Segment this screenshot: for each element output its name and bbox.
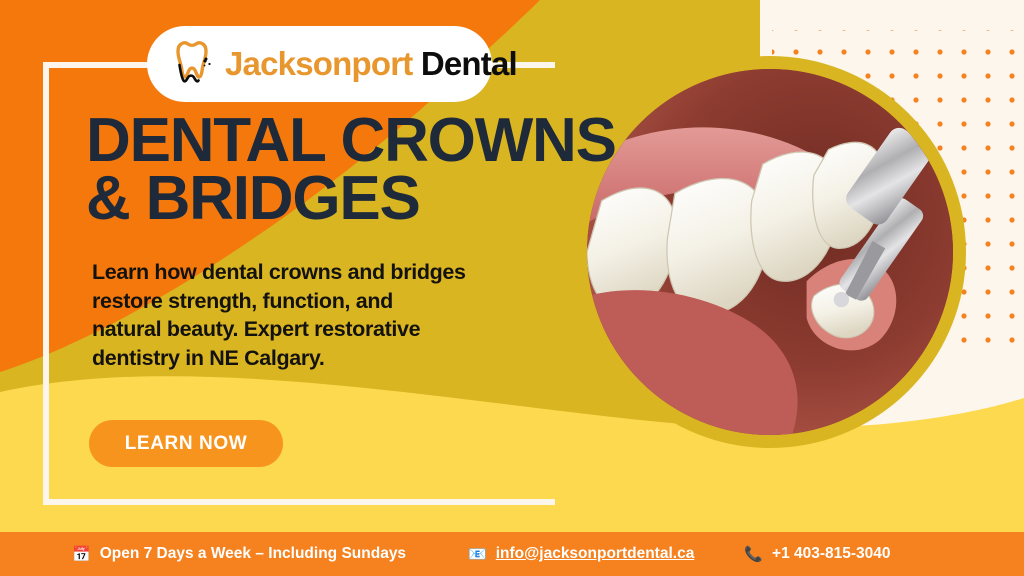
footer-email[interactable]: 📧 info@jacksonportdental.ca — [468, 545, 694, 563]
footer-email-text[interactable]: info@jacksonportdental.ca — [496, 545, 695, 563]
description-line-3: natural beauty. Expert restorative — [92, 315, 522, 344]
calendar-icon: 📅 — [72, 547, 91, 562]
footer-hours: 📅 Open 7 Days a Week – Including Sundays — [72, 545, 406, 563]
tooth-icon — [165, 37, 219, 91]
phone-icon: 📞 — [744, 547, 763, 562]
hero-description: Learn how dental crowns and bridges rest… — [92, 258, 522, 372]
brand-logo[interactable]: Jacksonport Dental — [147, 26, 492, 102]
brand-name-primary: Jacksonport — [225, 45, 412, 82]
footer-phone[interactable]: 📞 +1 403-815-3040 — [744, 545, 890, 563]
contact-footer: 📅 Open 7 Days a Week – Including Sundays… — [0, 532, 1024, 576]
description-line-4: dentistry in NE Calgary. — [92, 344, 522, 373]
page-title: DENTAL CROWNS & BRIDGES — [86, 112, 606, 227]
promo-banner: Jacksonport Dental DENTAL CROWNS & BRIDG… — [0, 0, 1024, 576]
footer-phone-text[interactable]: +1 403-815-3040 — [772, 545, 891, 563]
brand-name-secondary: Dental — [421, 45, 517, 82]
brand-name: Jacksonport Dental — [225, 45, 517, 83]
envelope-icon: 📧 — [468, 547, 487, 562]
description-line-1: Learn how dental crowns and bridges — [92, 258, 522, 287]
description-line-2: restore strength, function, and — [92, 287, 522, 316]
learn-now-button[interactable]: LEARN NOW — [89, 420, 283, 467]
footer-hours-text: Open 7 Days a Week – Including Sundays — [100, 545, 406, 563]
headline-line-2: & BRIDGES — [86, 170, 606, 228]
headline-line-1: DENTAL CROWNS — [86, 112, 606, 170]
dental-procedure-photo — [574, 56, 966, 448]
